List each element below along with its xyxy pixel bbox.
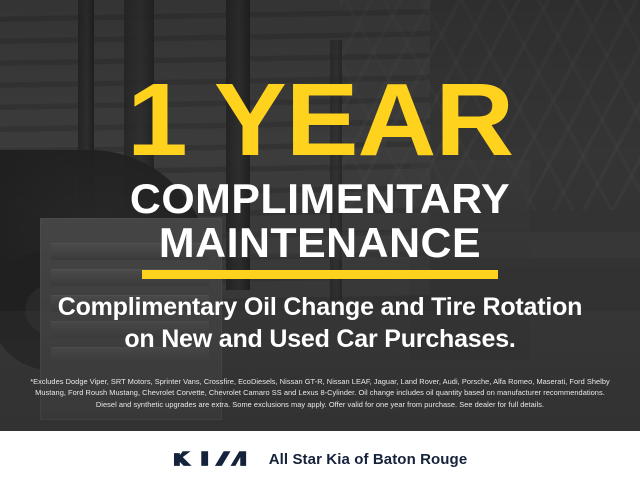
headline-secondary-line-2: MAINTENANCE — [0, 222, 640, 264]
tagline: Complimentary Oil Change and Tire Rotati… — [0, 291, 640, 355]
disclaimer-line-1: *Excludes Dodge Viper, SRT Motors, Sprin… — [14, 376, 626, 387]
disclaimer-text: *Excludes Dodge Viper, SRT Motors, Sprin… — [14, 376, 626, 410]
disclaimer-line-2: Mustang, Ford Roush Mustang, Chevrolet C… — [14, 387, 626, 398]
headline-secondary-line-1: COMPLIMENTARY — [0, 178, 640, 220]
tagline-line-1: Complimentary Oil Change and Tire Rotati… — [0, 291, 640, 323]
hero-content: 1 YEAR COMPLIMENTARY MAINTENANCE Complim… — [0, 0, 640, 431]
kia-logo-icon — [173, 449, 251, 470]
headline-primary: 1 YEAR — [0, 68, 640, 171]
promo-banner: 1 YEAR COMPLIMENTARY MAINTENANCE Complim… — [0, 0, 640, 488]
tagline-line-2: on New and Used Car Purchases. — [0, 323, 640, 355]
disclaimer-line-3: Diesel and synthetic upgrades are extra.… — [14, 399, 626, 410]
yellow-divider-rule — [142, 270, 498, 279]
footer-bar: All Star Kia of Baton Rouge — [0, 431, 640, 488]
hero-section: 1 YEAR COMPLIMENTARY MAINTENANCE Complim… — [0, 0, 640, 431]
dealer-name: All Star Kia of Baton Rouge — [269, 451, 468, 468]
